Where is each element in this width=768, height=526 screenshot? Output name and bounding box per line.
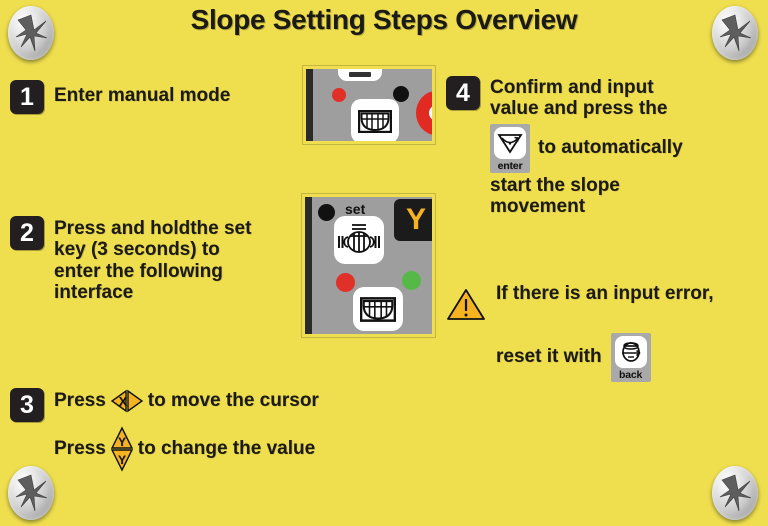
step-4: 4 Confirm and input value and press the … [446,76,756,217]
step-4-line-1: Confirm and input [490,77,683,98]
step-2-badge: 2 [10,216,44,250]
step-1: 1 Enter manual mode [10,80,230,114]
page-title: Slope Setting Steps Overview [0,4,768,36]
back-key-caption: back [615,369,647,381]
grille-key [351,99,399,143]
fan-arc-arrow-icon [497,132,523,154]
warning-triangle-icon [446,288,486,327]
red-indicator [332,88,346,102]
grille-key [353,287,403,331]
red-round-button [416,91,435,135]
warning-line-1: If there is an input error, [496,280,714,309]
step-3-line-2-prefix: Press [54,438,106,459]
y-tag: Y [394,199,435,241]
screw-star-icon [14,473,48,513]
svg-text:X: X [118,394,127,409]
warning-row-2: reset it with back [496,333,761,382]
step-4-badge: 4 [446,76,480,110]
step-3-badge: 3 [10,388,44,422]
step-3-line-2: Press Y Y to change the value [54,426,319,472]
step-1-badge: 1 [10,80,44,114]
machine-icon [337,221,381,259]
enter-key-caption: enter [494,160,526,172]
back-loop-arrow-icon [618,340,644,364]
screw-bottom-left [8,466,54,520]
step-4-line-4: start the slope [490,175,683,196]
svg-text:Y: Y [118,453,126,467]
step-1-text: Enter manual mode [54,85,230,106]
step-3: 3 Press X to move the cursor Press [10,388,319,472]
step-3-line-1-prefix: Press [54,390,106,411]
step-2-line-4: interface [54,282,251,303]
step-2-line-3: enter the following [54,261,251,282]
warning-row-1: If there is an input error, [446,282,761,327]
screw-bottom-right [712,466,758,520]
photo-left-bezel [306,69,313,141]
step-4-line-3: to automatically [538,137,683,158]
poster-canvas: Slope Setting Steps Overview 1 Enter man… [0,0,768,526]
step-4-line-5: movement [490,196,683,217]
red-indicator [336,273,355,292]
screw-star-icon [718,473,752,513]
step-3-line-2-suffix: to change the value [138,438,315,459]
partial-top-key [338,66,382,81]
step-2-line-1: Press and holdthe set [54,218,251,239]
grille-smile-icon [358,110,392,133]
step-2-line-2: key (3 seconds) to [54,239,251,260]
grille-smile-icon [360,297,396,322]
warning-line-2: reset it with [496,343,602,372]
set-label: set [345,201,365,217]
enter-key-face [494,127,526,159]
black-indicator [393,86,409,102]
step-4-enter-row: enter to automatically [490,124,683,173]
back-key-face [615,336,647,368]
black-indicator [318,204,335,221]
enter-key-button[interactable]: enter [490,124,530,173]
step-2: 2 Press and holdthe set key (3 seconds) … [10,216,300,303]
vertical-double-arrow-y-icon: Y Y [109,426,135,472]
step-3-line-1: Press X to move the cursor [54,388,319,414]
step-4-line-2: value and press the [490,98,683,119]
step-3-line-1-suffix: to move the cursor [148,390,319,411]
back-key-button[interactable]: back [611,333,651,382]
svg-text:Y: Y [118,435,126,449]
horizontal-double-arrow-x-icon: X [110,388,144,414]
control-panel-photo-set-interface: set Y [302,194,435,337]
green-indicator [402,271,421,290]
photo-left-bezel [305,197,312,334]
warning-block: If there is an input error, reset it wit… [446,282,761,382]
set-key [334,216,384,264]
y-tag-label: Y [406,203,426,237]
control-panel-photo-manual-mode [303,66,435,144]
